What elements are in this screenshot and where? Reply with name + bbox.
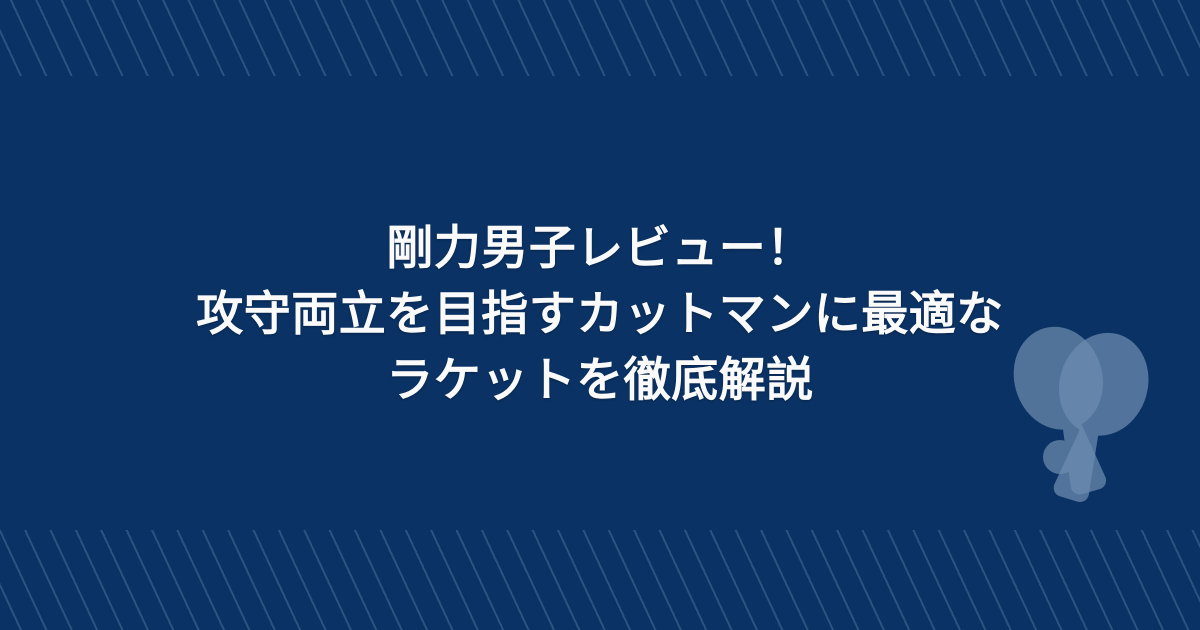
- ogp-card: 剛力男子レビュー！ 攻守両立を目指すカットマンに最適な ラケットを徹底解説: [0, 0, 1200, 630]
- page-title-line-1: 剛力男子レビュー！: [40, 216, 1160, 282]
- headline-container: 剛力男子レビュー！ 攻守両立を目指すカットマンに最適な ラケットを徹底解説: [0, 0, 1200, 630]
- page-title: 剛力男子レビュー！ 攻守両立を目指すカットマンに最適な ラケットを徹底解説: [40, 216, 1160, 414]
- page-title-line-3: ラケットを徹底解説: [40, 348, 1160, 414]
- page-title-line-2: 攻守両立を目指すカットマンに最適な: [40, 282, 1160, 348]
